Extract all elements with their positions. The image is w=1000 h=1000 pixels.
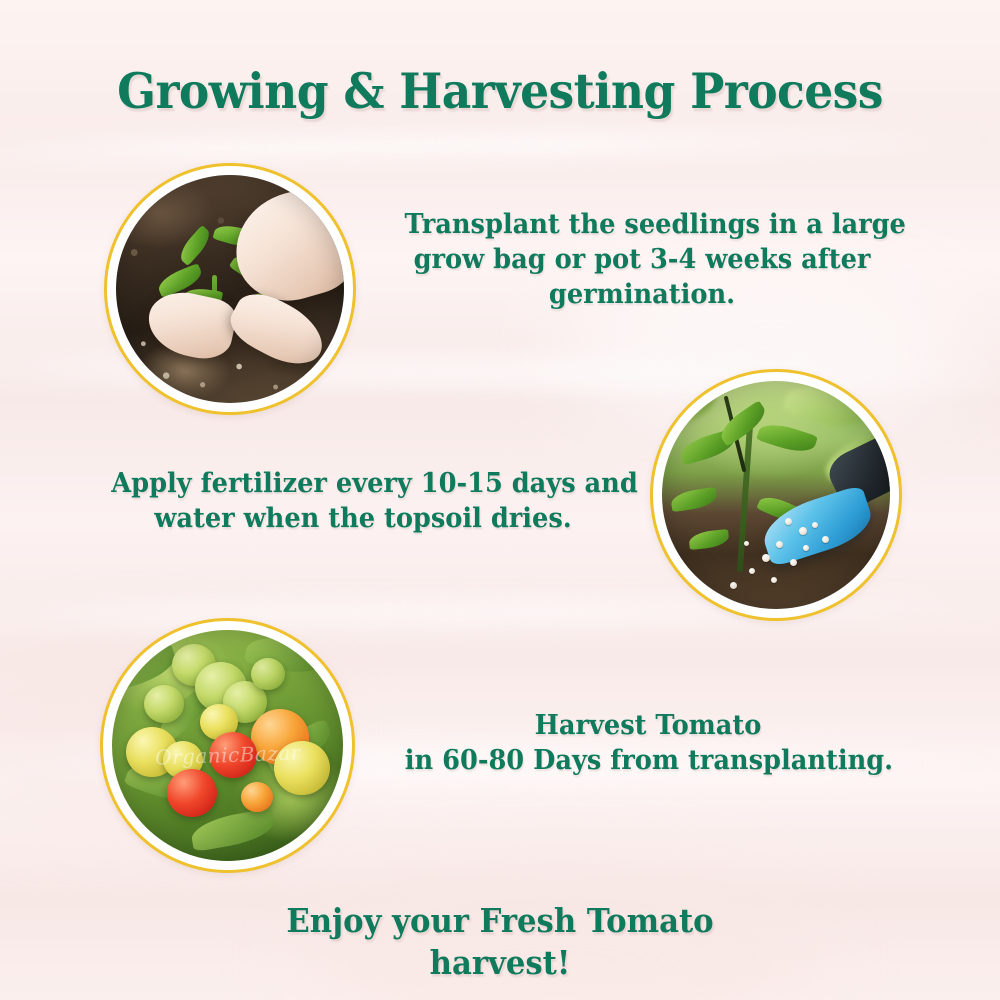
step3-caption: Harvest Tomato in 60-80 Days from transp…	[405, 708, 891, 778]
caption-line: Harvest Tomato	[405, 708, 891, 743]
page-title: Growing & Harvesting Process	[35, 62, 965, 120]
closing-line: Enjoy your Fresh Tomato	[35, 900, 965, 942]
caption-line: Transplant the seedlings in a large	[405, 207, 880, 242]
photo-vignette	[116, 175, 344, 403]
caption-line: Apply fertilizer every 10-15 days and	[111, 466, 615, 501]
caption-line: in 60-80 Days from transplanting.	[405, 743, 891, 778]
step1-caption: Transplant the seedlings in a large grow…	[405, 207, 880, 312]
photo-vignette	[112, 630, 343, 861]
step3-photo-frame: OrganicBazar	[100, 618, 355, 873]
closing-line: harvest!	[35, 942, 965, 984]
caption-line: water when the topsoil dries.	[111, 501, 615, 536]
step2-caption: Apply fertilizer every 10-15 days and wa…	[111, 466, 615, 536]
ripening-tomatoes-photo: OrganicBazar	[112, 630, 343, 861]
caption-line: germination.	[405, 277, 880, 312]
photo-vignette	[662, 381, 890, 609]
fertilizing-trowel-photo	[662, 381, 890, 609]
closing-message: Enjoy your Fresh Tomato harvest!	[35, 900, 965, 983]
caption-line: grow bag or pot 3-4 weeks after	[405, 242, 880, 277]
step1-photo-frame	[104, 163, 356, 415]
hands-planting-seedling-photo	[116, 175, 344, 403]
step2-photo-frame	[650, 369, 902, 621]
infographic-poster: Growing & Harvesting Process Transplant …	[0, 0, 1000, 1000]
